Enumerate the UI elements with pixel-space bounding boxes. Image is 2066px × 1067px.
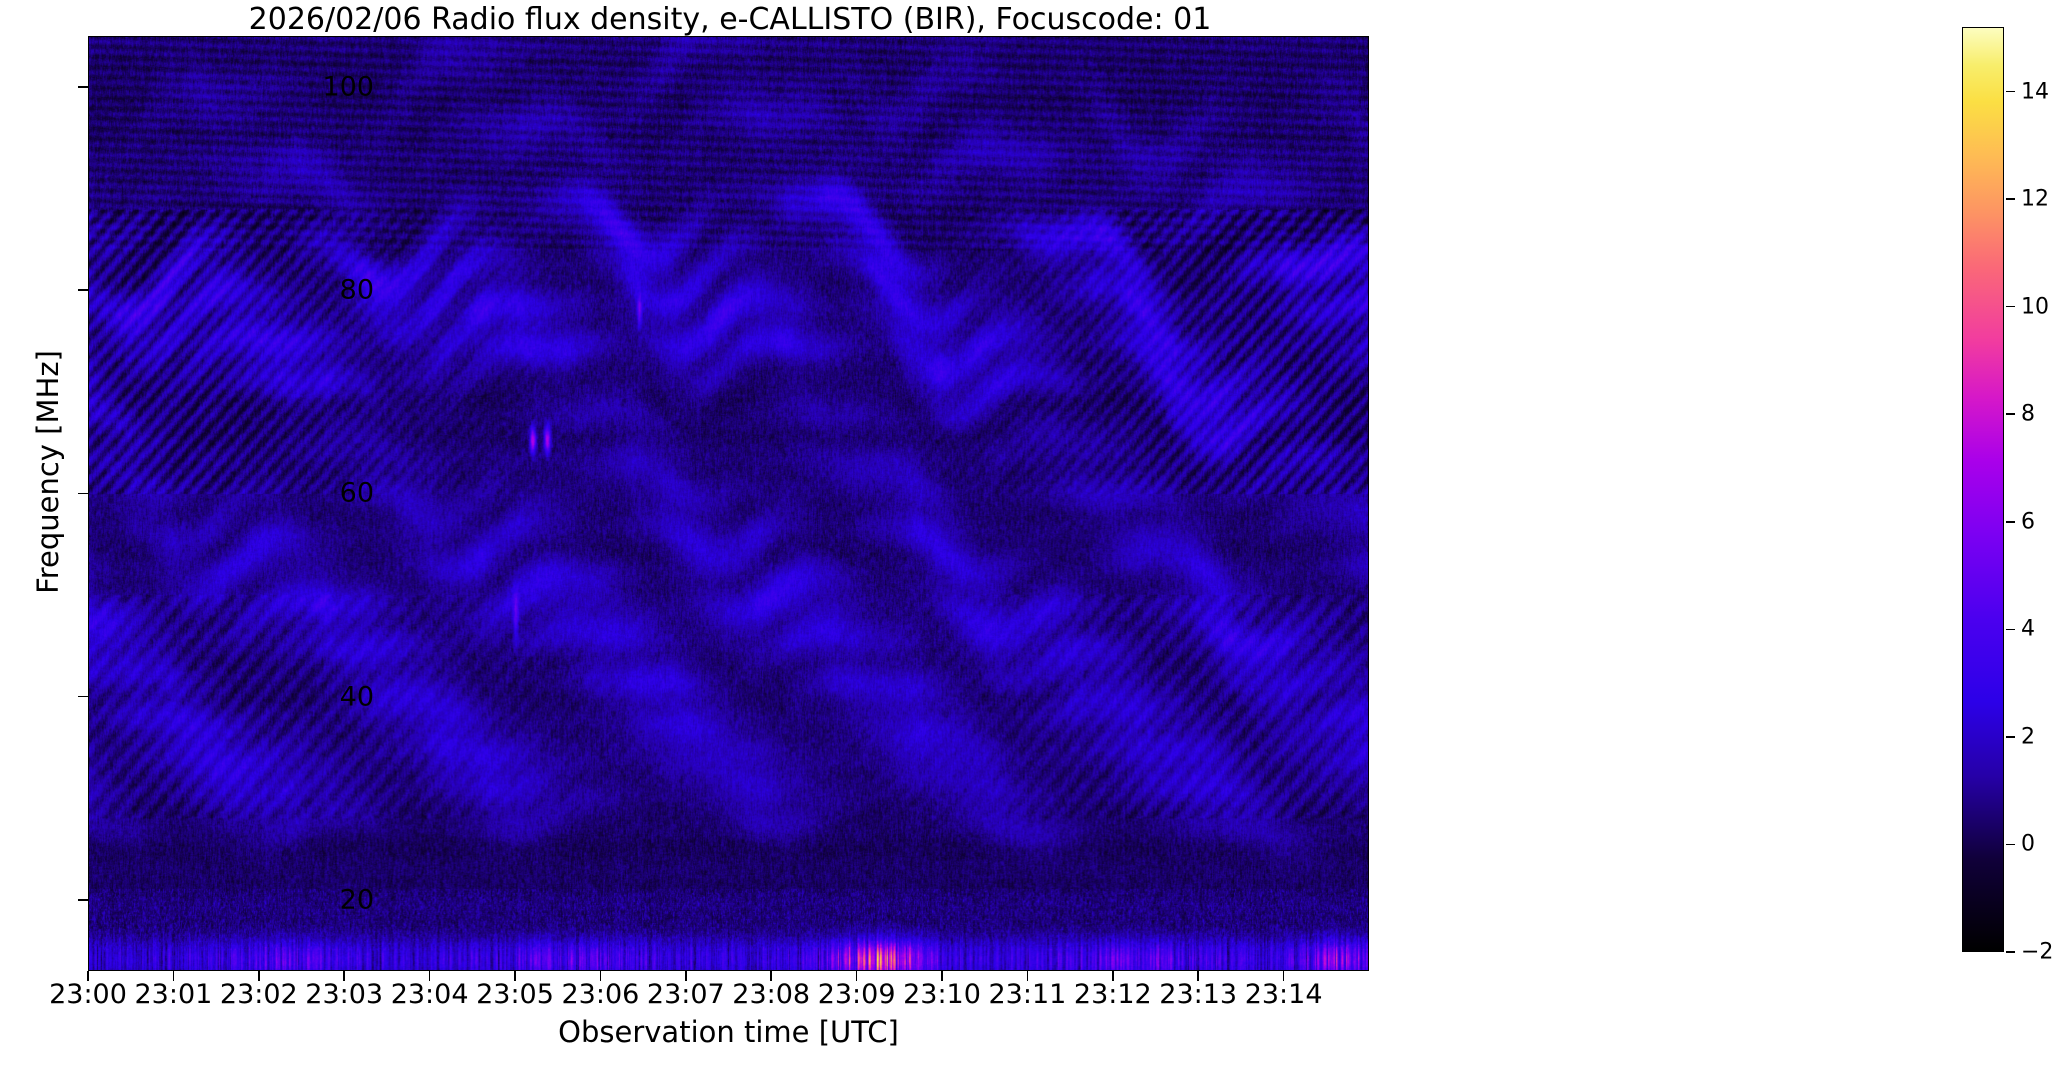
colorbar-tick-mark [2006, 629, 2015, 631]
colorbar [1962, 27, 2004, 952]
y-tick-mark [78, 696, 88, 698]
x-tick-label: 23:12 [1074, 979, 1152, 1010]
y-tick-mark [78, 289, 88, 291]
y-tick-label: 20 [340, 884, 374, 915]
x-tick-label: 23:04 [391, 979, 469, 1010]
x-tick-label: 23:09 [818, 979, 896, 1010]
colorbar-tick-mark [2006, 306, 2015, 308]
y-tick-label: 60 [340, 478, 374, 509]
colorbar-tick-label: 8 [2021, 402, 2035, 427]
colorbar-tick-mark [2006, 951, 2015, 953]
colorbar-tick-label: 14 [2021, 79, 2049, 104]
x-tick-label: 23:05 [476, 979, 554, 1010]
y-tick-mark [78, 899, 88, 901]
y-tick-mark [78, 86, 88, 88]
colorbar-tick-label: 2 [2021, 724, 2035, 749]
x-tick-label: 23:00 [49, 979, 127, 1010]
x-tick-label: 23:01 [134, 979, 212, 1010]
x-tick-label: 23:13 [1159, 979, 1237, 1010]
x-tick-label: 23:11 [988, 979, 1066, 1010]
colorbar-tick-label: −2 [2021, 940, 2053, 965]
figure-canvas: 2026/02/06 Radio flux density, e-CALLIST… [0, 0, 2066, 1067]
y-tick-label: 100 [322, 71, 374, 102]
chart-title: 2026/02/06 Radio flux density, e-CALLIST… [0, 2, 1460, 37]
x-axis-label: Observation time [UTC] [88, 1015, 1369, 1049]
x-tick-label: 23:07 [647, 979, 725, 1010]
y-tick-label: 80 [340, 275, 374, 306]
x-tick-label: 23:14 [1245, 979, 1323, 1010]
colorbar-tick-label: 6 [2021, 509, 2035, 534]
colorbar-tick-label: 0 [2021, 832, 2035, 857]
x-tick-label: 23:08 [732, 979, 810, 1010]
y-axis-label: Frequency [MHz] [31, 72, 65, 872]
x-tick-label: 23:02 [220, 979, 298, 1010]
colorbar-tick-label: 12 [2021, 187, 2049, 212]
y-tick-label: 40 [340, 681, 374, 712]
colorbar-tick-mark [2006, 844, 2015, 846]
x-tick-label: 23:03 [305, 979, 383, 1010]
colorbar-tick-mark [2006, 91, 2015, 93]
y-tick-mark [78, 493, 88, 495]
colorbar-tick-mark [2006, 413, 2015, 415]
colorbar-tick-label: 4 [2021, 617, 2035, 642]
x-tick-label: 23:06 [561, 979, 639, 1010]
spectrogram-image [89, 37, 1368, 970]
colorbar-tick-mark [2006, 521, 2015, 523]
x-tick-label: 23:10 [903, 979, 981, 1010]
spectrogram-axes [88, 36, 1369, 971]
colorbar-tick-mark [2006, 198, 2015, 200]
colorbar-tick-mark [2006, 736, 2015, 738]
colorbar-tick-label: 10 [2021, 294, 2049, 319]
